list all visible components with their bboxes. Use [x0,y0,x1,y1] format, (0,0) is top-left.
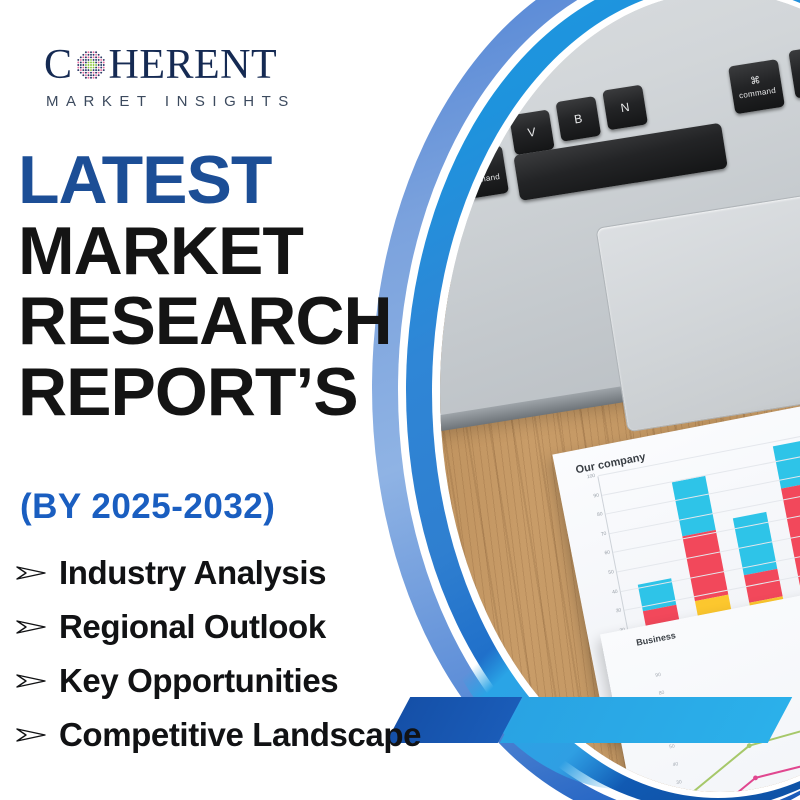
arrowhead-bullet-icon [16,562,46,584]
headline-line-latest: LATEST [18,148,458,213]
list-item: Industry Analysis [16,554,576,592]
headline-line-research: RESEARCH [18,289,458,354]
bullet-label: Regional Outlook [59,608,326,646]
brand-name-suffix: HERENT [109,44,278,86]
list-item: Key Opportunities [16,662,576,700]
promo-poster: ⌘ command V B N ⌘ command option [0,0,800,800]
brand-tagline: MARKET INSIGHTS [46,93,344,110]
headline-line-market: MARKET [18,219,458,284]
feature-bullet-list: Industry Analysis Regional Outlook Key O… [16,554,576,770]
brand-wordmark: C HERENT [44,44,344,86]
list-item: Regional Outlook [16,608,576,646]
bullet-label: Industry Analysis [59,554,326,592]
dotted-globe-icon [74,48,108,82]
headline-line-reports: REPORT’S [18,360,458,425]
arrowhead-bullet-icon [16,616,46,638]
brand-logo[interactable]: C HERENT MARKET INSIGHTS [44,44,344,110]
year-range-badge: (BY 2025-2032) [20,487,275,527]
list-item: Competitive Landscape [16,716,576,754]
arrowhead-bullet-icon [16,670,46,692]
brand-name-prefix: C [44,44,73,86]
bullet-label: Key Opportunities [59,662,338,700]
arrowhead-bullet-icon [16,724,46,746]
content-layer: C HERENT MARKET INSIGHTS LATEST MARKET R… [0,0,800,800]
bullet-label: Competitive Landscape [59,716,421,754]
headline-block: LATEST MARKET RESEARCH REPORT’S [18,148,458,430]
